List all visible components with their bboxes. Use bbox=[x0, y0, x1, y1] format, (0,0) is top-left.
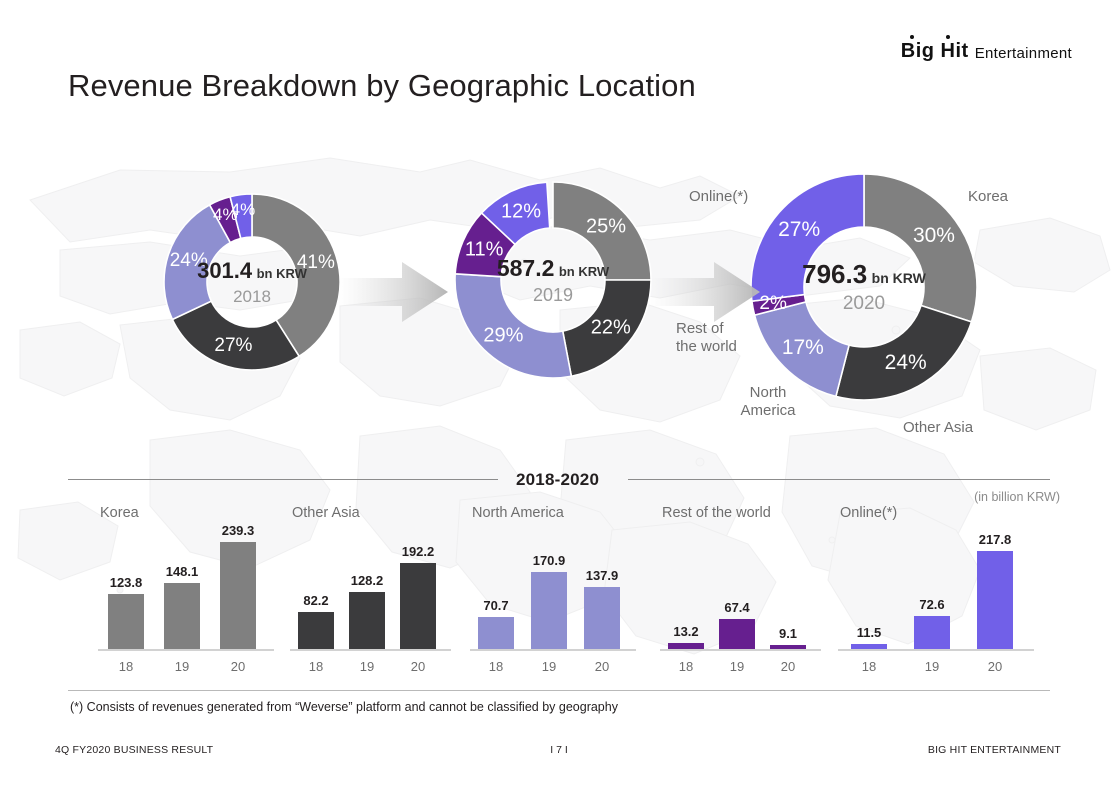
bar-baseline bbox=[98, 649, 274, 651]
bar-group-rest-of-the-world: Rest of the world13.21867.4199.120 bbox=[660, 495, 835, 685]
slide-root: Big Hit Entertainment Revenue Breakdown … bbox=[0, 0, 1118, 786]
range-title: 2018-2020 bbox=[516, 470, 599, 490]
bar[interactable] bbox=[298, 612, 334, 649]
bar[interactable] bbox=[584, 587, 620, 649]
bar-baseline bbox=[838, 649, 1034, 651]
bar-value-label: 11.5 bbox=[857, 625, 882, 640]
donut-rings-2018 bbox=[162, 192, 342, 372]
footnote-rule bbox=[68, 690, 1050, 691]
bar-baseline bbox=[470, 649, 636, 651]
bar-tick-label: 18 bbox=[679, 659, 693, 674]
callout-online: Online(*) bbox=[689, 188, 748, 206]
bar[interactable] bbox=[400, 563, 436, 649]
callout-korea: Korea bbox=[968, 188, 1008, 206]
bar[interactable] bbox=[851, 644, 887, 649]
bar-value-label: 72.6 bbox=[919, 597, 944, 612]
bar-tick-label: 18 bbox=[119, 659, 133, 674]
callout-north-america-line2: America bbox=[733, 402, 803, 420]
bar-tick-label: 18 bbox=[309, 659, 323, 674]
donut-slice-other-asia[interactable] bbox=[172, 301, 299, 370]
bar-value-label: 217.8 bbox=[979, 532, 1012, 547]
bar[interactable] bbox=[668, 643, 704, 649]
bar[interactable] bbox=[349, 592, 385, 649]
donut-slice-other-asia[interactable] bbox=[563, 280, 651, 376]
bar-tick-label: 18 bbox=[489, 659, 503, 674]
bar[interactable] bbox=[977, 551, 1013, 649]
logo-dots-icon bbox=[910, 35, 970, 43]
bar-value-label: 148.1 bbox=[166, 564, 199, 579]
donut-chart-2019: 25%22%29%11%12%587.2 bn KRW2019 bbox=[453, 180, 653, 380]
footer-page-number: I 7 I bbox=[550, 744, 568, 756]
bar[interactable] bbox=[108, 594, 144, 649]
bar-value-label: 13.2 bbox=[673, 624, 698, 639]
donut-slice-other-asia[interactable] bbox=[836, 306, 972, 400]
bar[interactable] bbox=[164, 583, 200, 649]
page-title: Revenue Breakdown by Geographic Location bbox=[68, 68, 696, 104]
bar-value-label: 170.9 bbox=[533, 553, 566, 568]
bar-tick-label: 19 bbox=[542, 659, 556, 674]
bar-group-online: Online(*)11.51872.619217.820 bbox=[838, 495, 1048, 685]
bar-tick-label: 19 bbox=[360, 659, 374, 674]
footnote-text: (*) Consists of revenues generated from … bbox=[70, 700, 618, 714]
donut-slice-north-america[interactable] bbox=[755, 302, 850, 397]
bar-value-label: 82.2 bbox=[303, 593, 328, 608]
bar[interactable] bbox=[220, 542, 256, 649]
bar-tick-label: 20 bbox=[781, 659, 795, 674]
divider-left bbox=[68, 479, 498, 480]
bar-baseline bbox=[660, 649, 821, 651]
bar-tick-label: 20 bbox=[595, 659, 609, 674]
bar-value-label: 137.9 bbox=[586, 568, 619, 583]
donut-chart-2020: 30%24%17%2%27%796.3 bn KRW2020 bbox=[749, 172, 979, 402]
bar-group-title: Other Asia bbox=[292, 505, 360, 521]
bar-group-title: Online(*) bbox=[840, 505, 897, 521]
bar-group-title: Rest of the world bbox=[662, 505, 771, 521]
bar[interactable] bbox=[914, 616, 950, 649]
bar-tick-label: 19 bbox=[175, 659, 189, 674]
bar-tick-label: 20 bbox=[988, 659, 1002, 674]
bar[interactable] bbox=[531, 572, 567, 649]
bar-tick-label: 19 bbox=[925, 659, 939, 674]
bar[interactable] bbox=[770, 645, 806, 649]
bar-tick-label: 19 bbox=[730, 659, 744, 674]
bar-tick-label: 20 bbox=[231, 659, 245, 674]
logo-secondary-text: Entertainment bbox=[975, 46, 1072, 61]
bar-value-label: 239.3 bbox=[222, 523, 255, 538]
callout-other-asia: Other Asia bbox=[903, 419, 973, 437]
footer-left-text: 4Q FY2020 BUSINESS RESULT bbox=[55, 744, 213, 756]
bar-value-label: 67.4 bbox=[724, 600, 749, 615]
donut-rings-2019 bbox=[453, 180, 653, 380]
bar-value-label: 9.1 bbox=[779, 626, 797, 641]
brand-logo: Big Hit Entertainment bbox=[901, 22, 1072, 62]
callout-north-america-line1: North bbox=[733, 384, 803, 402]
donut-chart-2018: 41%27%24%4%4%301.4 bn KRW2018 bbox=[162, 192, 342, 372]
bar-group-korea: Korea123.818148.119239.320 bbox=[98, 495, 288, 685]
transition-arrow-2-icon bbox=[648, 258, 768, 326]
bar-group-other-asia: Other Asia82.218128.219192.220 bbox=[290, 495, 465, 685]
divider-right bbox=[628, 479, 1050, 480]
bar-value-label: 192.2 bbox=[402, 544, 435, 559]
bar-group-north-america: North America70.718170.919137.920 bbox=[470, 495, 650, 685]
footer-right-text: BIG HIT ENTERTAINMENT bbox=[928, 744, 1061, 756]
bar[interactable] bbox=[478, 617, 514, 649]
bar-tick-label: 18 bbox=[862, 659, 876, 674]
bar-tick-label: 20 bbox=[411, 659, 425, 674]
donut-slice-korea[interactable] bbox=[553, 182, 651, 280]
donut-slice-north-america[interactable] bbox=[455, 274, 571, 378]
bar[interactable] bbox=[719, 619, 755, 649]
callout-rest-of-the-world-line2: the world bbox=[676, 338, 737, 356]
donut-rings-2020 bbox=[749, 172, 979, 402]
bar-baseline bbox=[290, 649, 451, 651]
bar-value-label: 123.8 bbox=[110, 575, 143, 590]
bar-value-label: 70.7 bbox=[483, 598, 508, 613]
donut-slice-korea[interactable] bbox=[864, 174, 977, 322]
bar-group-title: Korea bbox=[100, 505, 139, 521]
logo-primary-text: Big Hit bbox=[901, 40, 969, 62]
bar-group-title: North America bbox=[472, 505, 564, 521]
bar-value-label: 128.2 bbox=[351, 573, 384, 588]
callout-north-america: NorthAmerica bbox=[733, 384, 803, 419]
transition-arrow-1-icon bbox=[336, 258, 456, 326]
